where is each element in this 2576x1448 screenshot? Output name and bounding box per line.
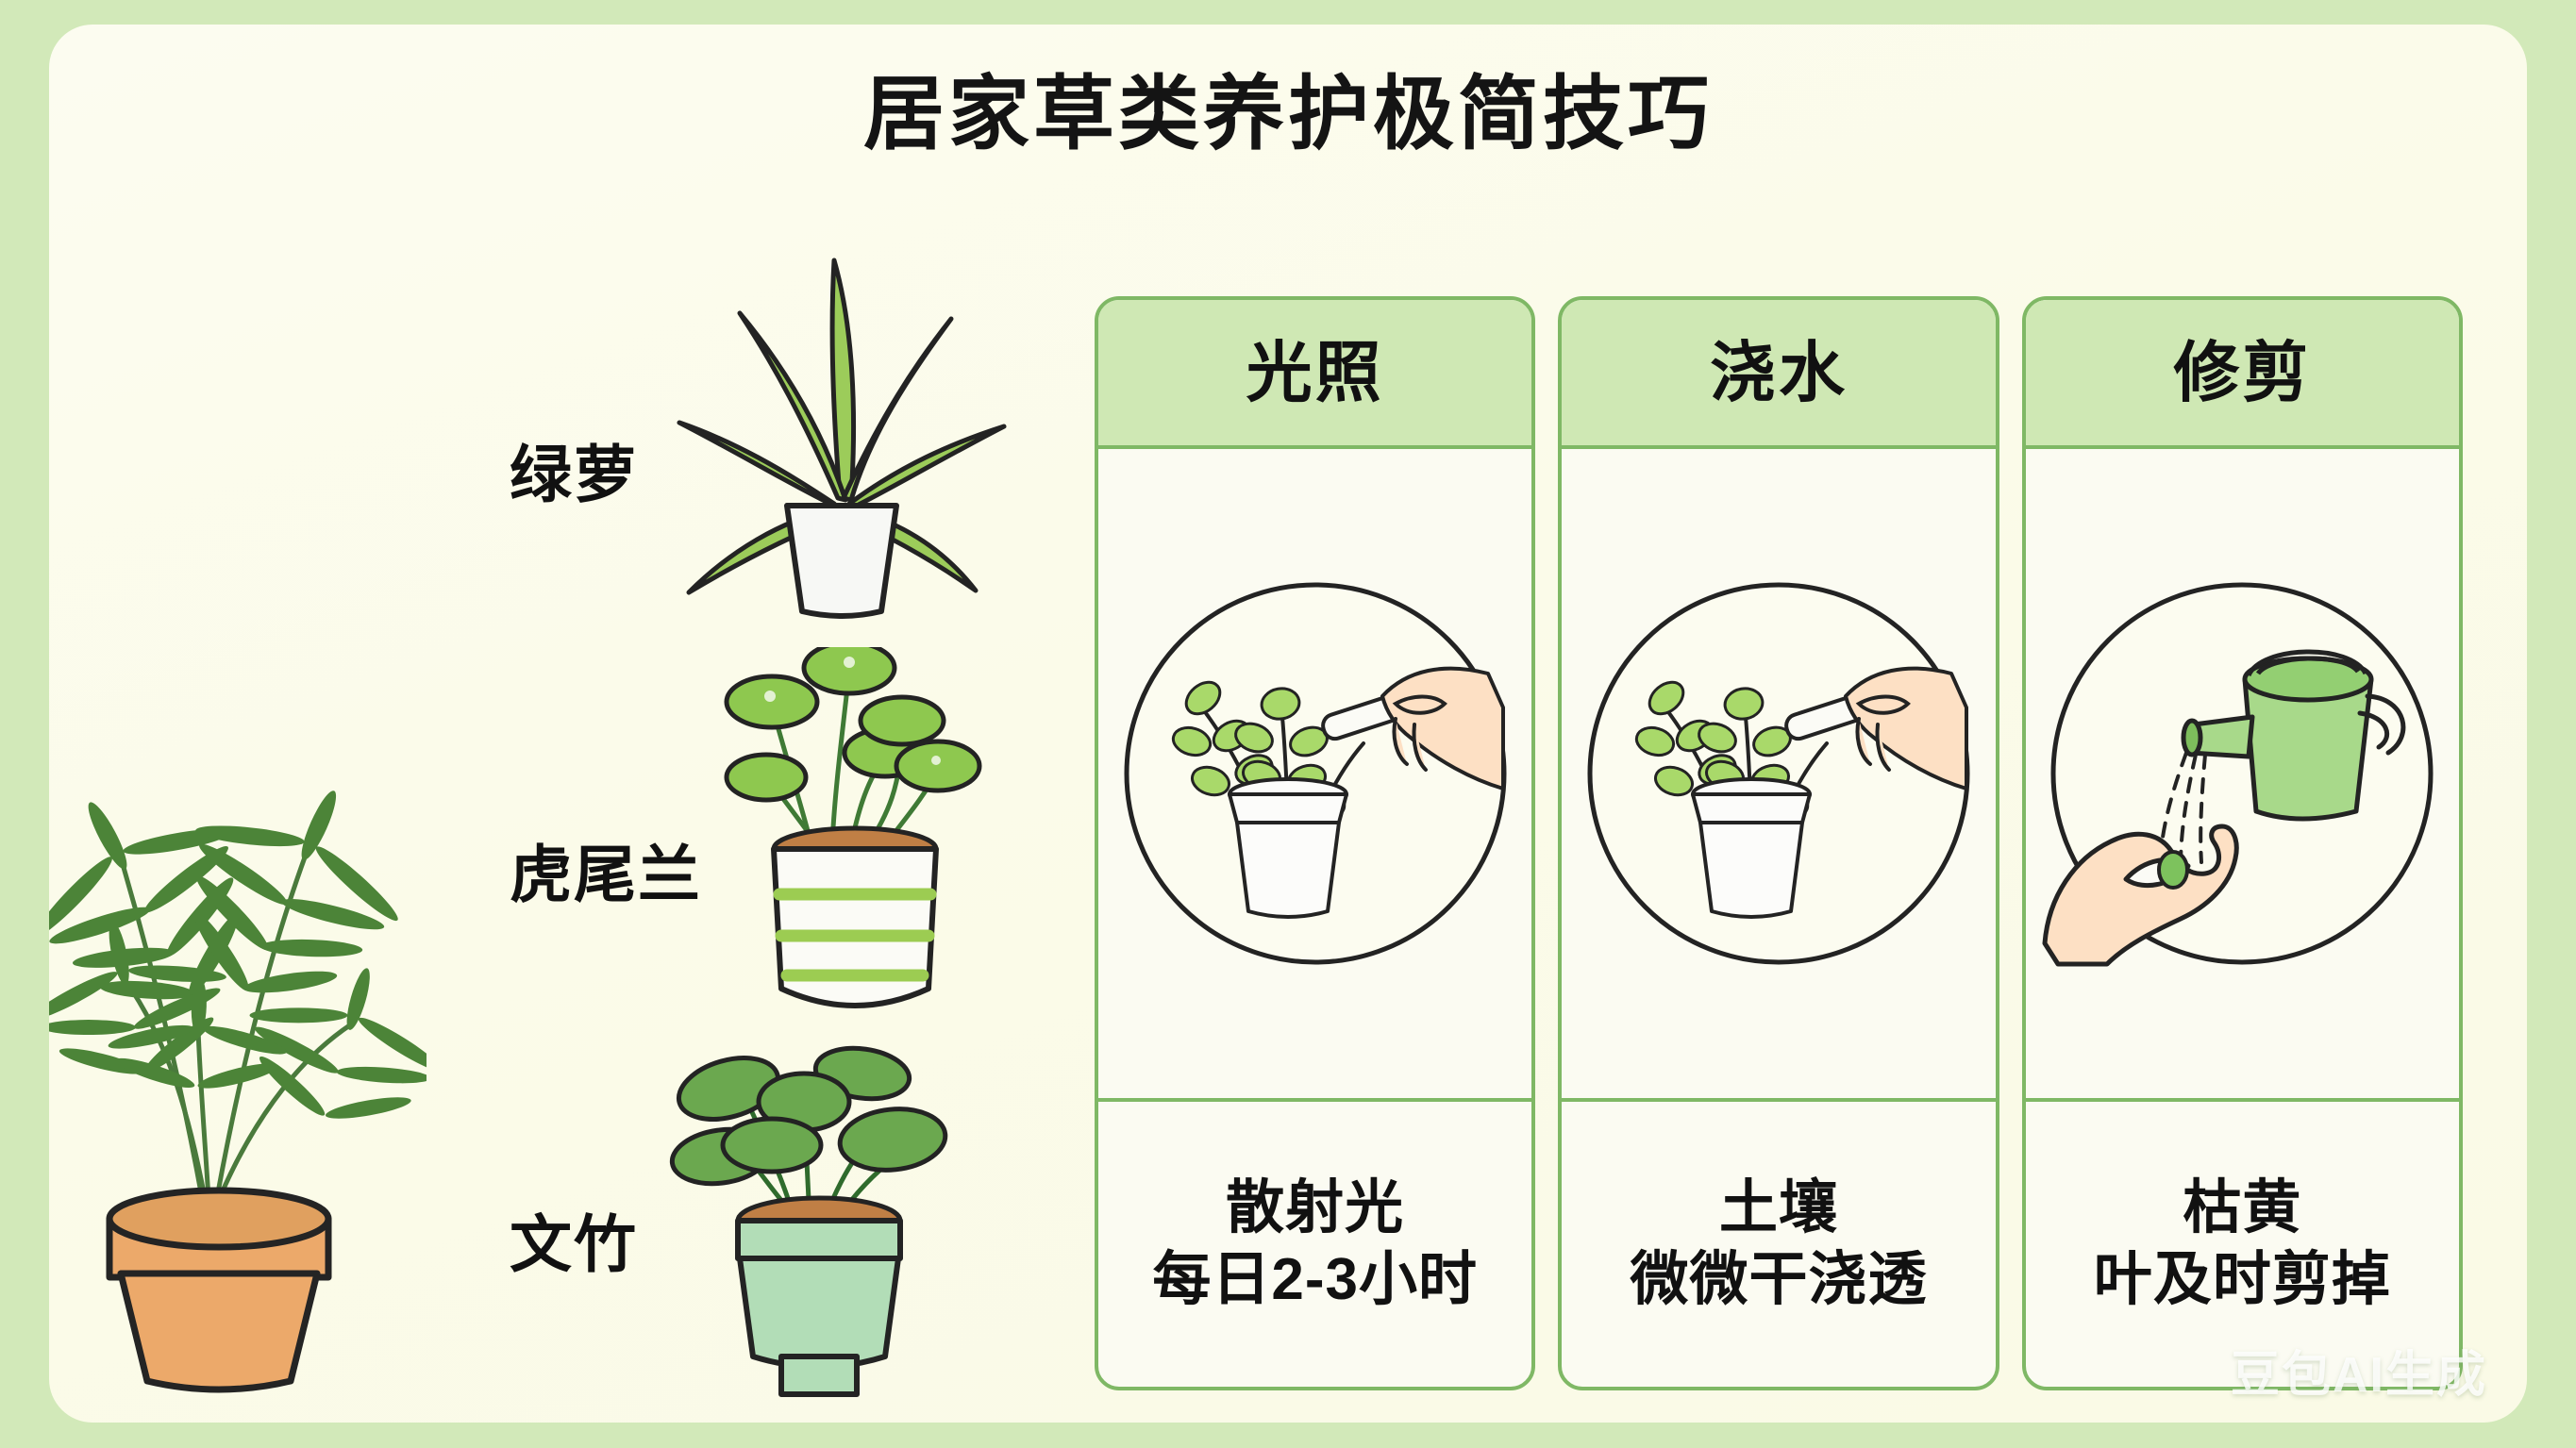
care-card-pruning-header: 修剪 [2026, 300, 2459, 449]
care-card-lighting[interactable]: 光照 [1095, 296, 1535, 1390]
pilea-mint-pot-icon [662, 1034, 993, 1421]
care-card-watering-body: 土壤 微微干浇透 [1562, 1102, 1995, 1387]
care-card-watering-line1: 土壤 [1719, 1173, 1838, 1244]
care-card-watering-title: 浇水 [1710, 340, 1848, 406]
parlor-palm-terracotta-pot-icon [49, 553, 427, 1402]
care-card-pruning-line1: 枯黄 [2183, 1173, 2301, 1244]
care-card-lighting-header: 光照 [1098, 300, 1531, 449]
care-card-pruning-title: 修剪 [2173, 340, 2311, 406]
care-card-pruning-line2: 叶及时剪掉 [2094, 1244, 2391, 1316]
care-card-lighting-title: 光照 [1246, 340, 1384, 406]
pilea-striped-pot-icon [700, 647, 1012, 1053]
page-title: 居家草类养护极简技巧 [49, 74, 2527, 155]
hand-holding-stick-over-potted-plant-icon [1562, 449, 1995, 1102]
care-card-lighting-line2: 每日2-3小时 [1152, 1244, 1478, 1316]
hand-holding-stick-over-potted-plant-icon [1098, 449, 1531, 1102]
poster-panel: 居家草类养护极简技巧 [49, 25, 2527, 1423]
watering-can-pouring-onto-hand-icon [2026, 449, 2459, 1102]
plant-label-1: 绿萝 [510, 424, 638, 515]
plant-label-2: 虎尾兰 [510, 824, 702, 915]
care-card-watering-header: 浇水 [1562, 300, 1995, 449]
care-card-watering[interactable]: 浇水 [1558, 296, 1999, 1390]
care-card-pruning-body: 枯黄 叶及时剪掉 [2026, 1102, 2459, 1387]
care-card-lighting-line1: 散射光 [1226, 1173, 1404, 1244]
care-cards: 光照 [1095, 296, 2463, 1390]
spider-plant-white-pot-icon [672, 223, 1012, 619]
care-card-lighting-body: 散射光 每日2-3小时 [1098, 1102, 1531, 1387]
plant-label-3: 文竹 [510, 1194, 638, 1285]
care-card-pruning[interactable]: 修剪 [2022, 296, 2463, 1390]
care-card-watering-line2: 微微干浇透 [1630, 1244, 1927, 1316]
